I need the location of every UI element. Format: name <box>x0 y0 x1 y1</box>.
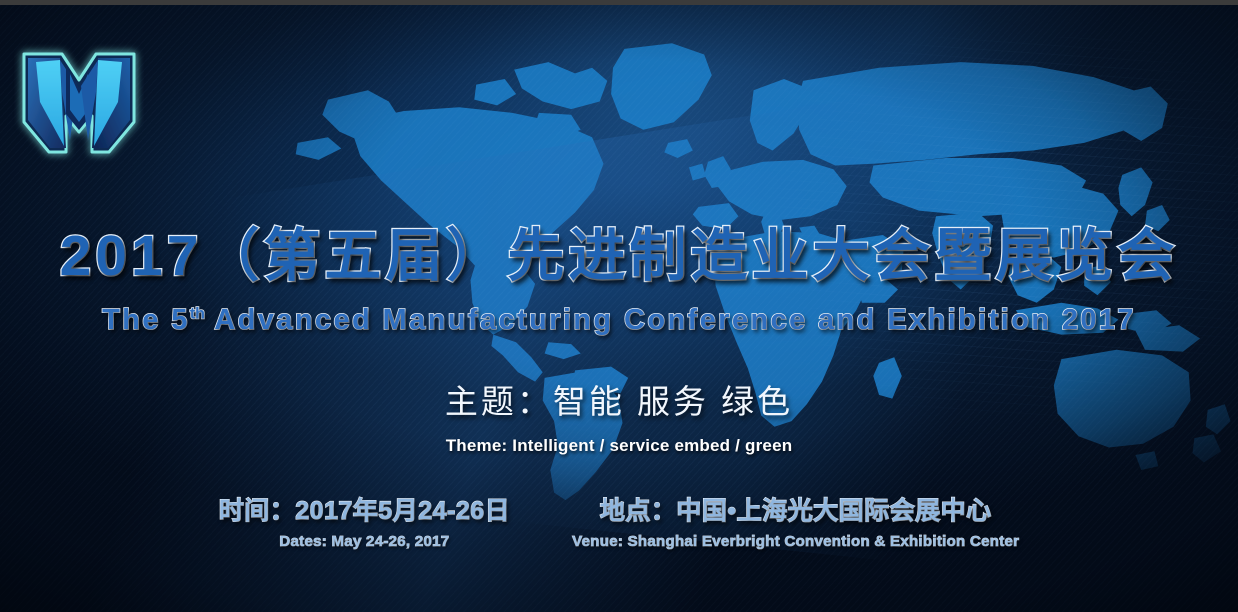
page-title-chinese: 2017（第五届）先进制造业大会暨展览会 <box>0 228 1238 285</box>
event-date-english: Dates: May 24-26, 2017 <box>219 534 510 551</box>
amc-shield-m-logo <box>14 36 144 166</box>
top-border-strip <box>0 0 1238 5</box>
event-venue-chinese: 地点：中国•上海光大国际会展中心 <box>572 498 1019 526</box>
theme-chinese: 主题：智能 服务 绿色 <box>0 385 1238 418</box>
event-info-row: 时间：2017年5月24-26日 Dates: May 24-26, 2017 … <box>0 498 1238 550</box>
event-date-block: 时间：2017年5月24-26日 Dates: May 24-26, 2017 <box>219 498 510 550</box>
theme-english: Theme: Intelligent / service embed / gre… <box>0 437 1238 454</box>
conference-banner: 2017（第五届）先进制造业大会暨展览会 The 5th Advanced Ma… <box>0 0 1238 612</box>
event-venue-english: Venue: Shanghai Everbright Convention & … <box>572 534 1019 551</box>
event-venue-block: 地点：中国•上海光大国际会展中心 Venue: Shanghai Everbri… <box>572 498 1019 550</box>
title-english-ordinal-suffix: th <box>190 305 205 322</box>
title-english-suffix: Advanced Manufacturing Conference and Ex… <box>205 304 1136 336</box>
title-english-prefix: The 5 <box>102 304 190 336</box>
event-date-chinese: 时间：2017年5月24-26日 <box>219 498 510 526</box>
page-title-english: The 5th Advanced Manufacturing Conferenc… <box>0 306 1238 335</box>
